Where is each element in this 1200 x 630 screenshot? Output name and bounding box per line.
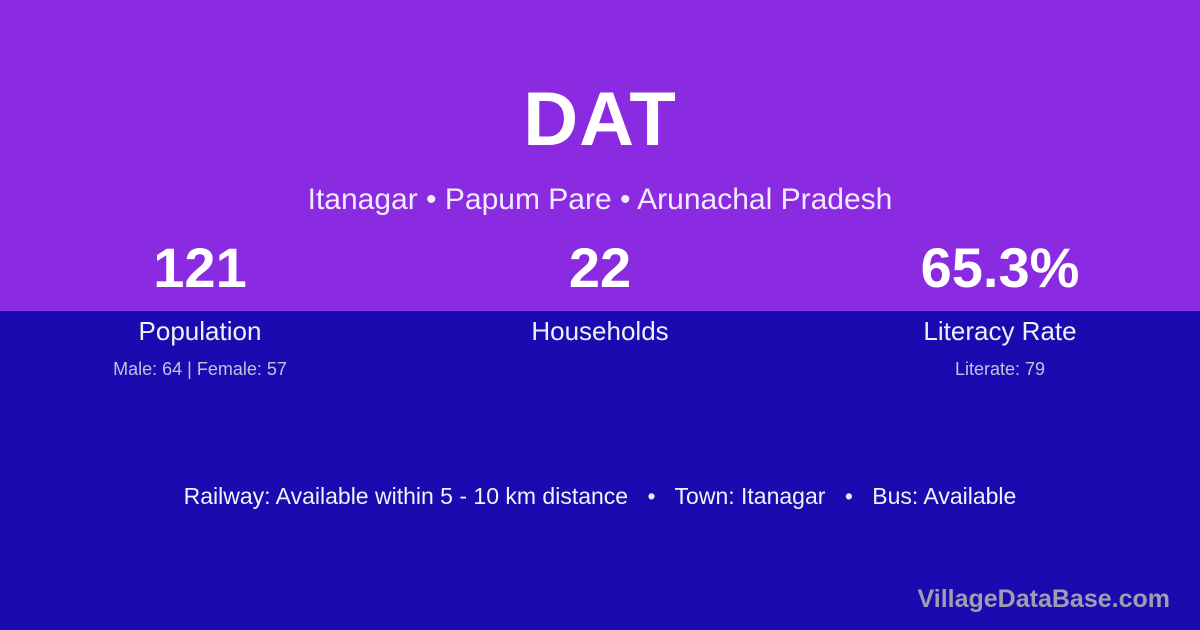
site-watermark: VillageDataBase.com [918,587,1170,612]
stat-households-label: Households [400,318,800,344]
stat-population-value: 121 [0,240,400,302]
info-separator-2: • [832,485,866,508]
stat-population: 121 Population Male: 64 | Female: 57 [0,240,400,378]
stat-population-breakdown: Male: 64 | Female: 57 [0,360,400,378]
header: DAT Itanagar • Papum Pare • Arunachal Pr… [0,0,1200,215]
stat-literacy-rate-breakdown: Literate: 79 [800,360,1200,378]
info-town: Town: Itanagar [675,483,826,509]
stat-literacy-rate-value: 65.3% [800,240,1200,302]
stats-row: 121 Population Male: 64 | Female: 57 22 … [0,240,1200,378]
info-bus: Bus: Available [872,483,1016,509]
amenities-info-line: Railway: Available within 5 - 10 km dist… [0,485,1200,508]
stat-literacy-rate-label: Literacy Rate [800,318,1200,344]
stat-households: 22 Households [400,240,800,378]
location-breadcrumb: Itanagar • Papum Pare • Arunachal Prades… [0,185,1200,215]
stat-households-value: 22 [400,240,800,302]
info-separator-1: • [635,485,669,508]
page-title: DAT [0,82,1200,158]
stat-population-label: Population [0,318,400,344]
stat-literacy-rate: 65.3% Literacy Rate Literate: 79 [800,240,1200,378]
info-railway: Railway: Available within 5 - 10 km dist… [184,483,628,509]
stat-households-breakdown [400,360,800,378]
